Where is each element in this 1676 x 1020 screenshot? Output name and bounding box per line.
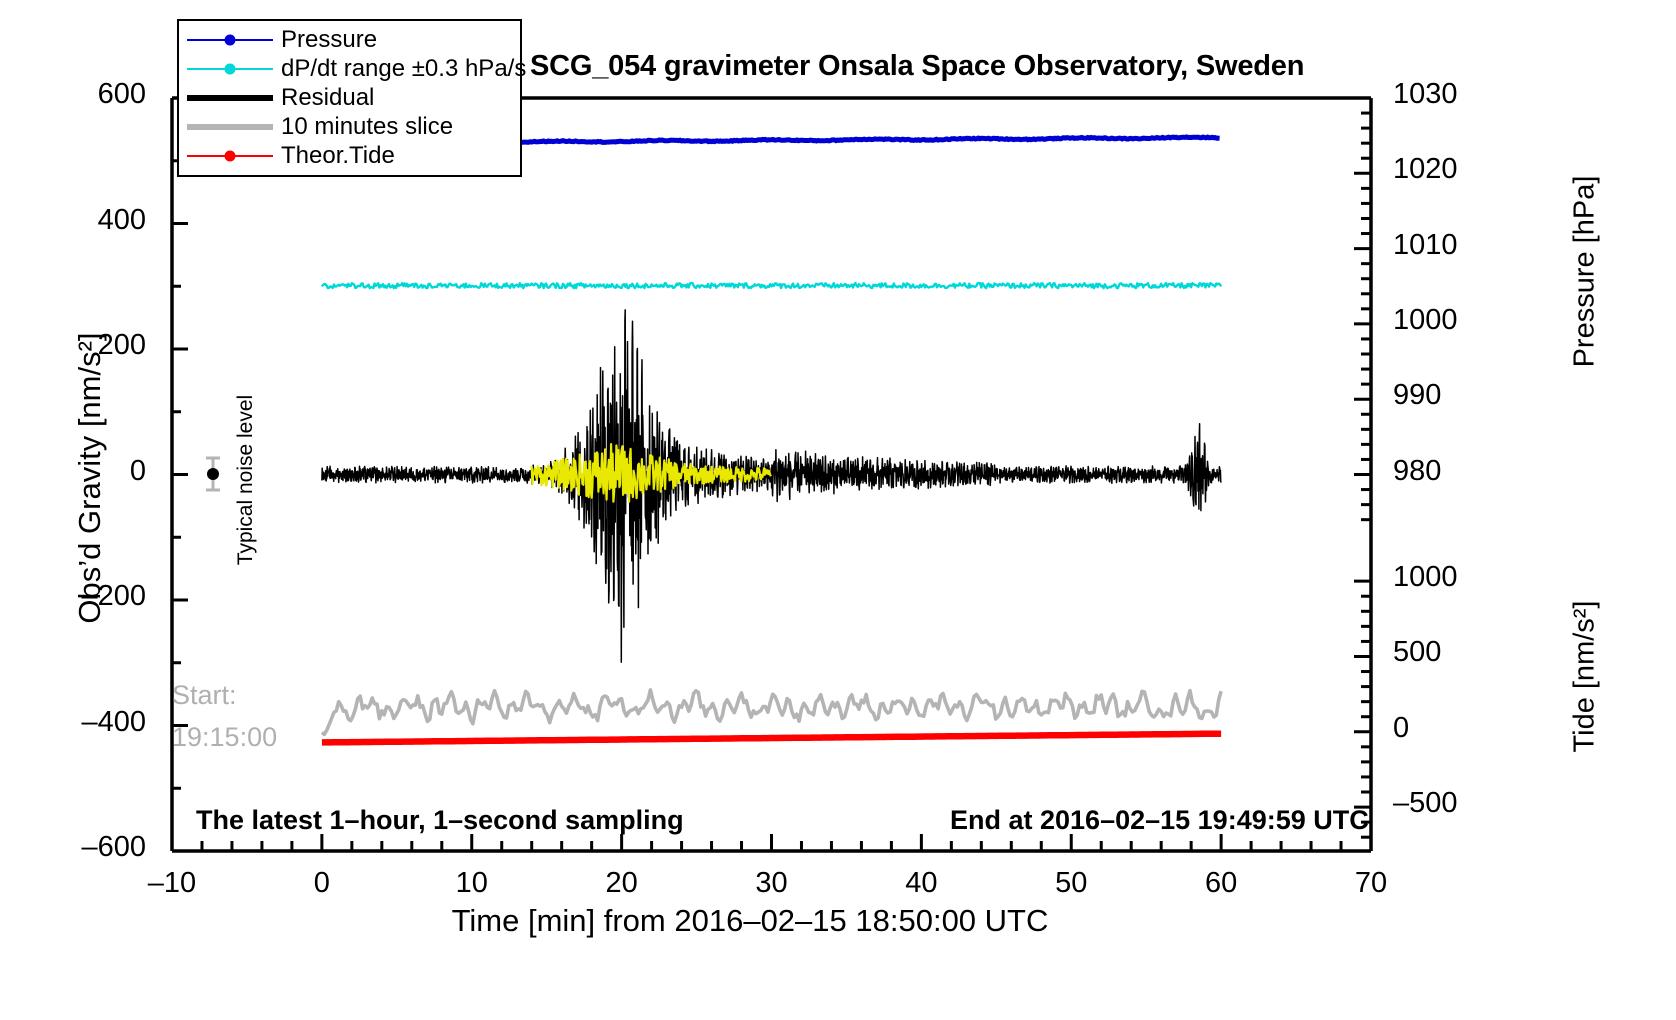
x-tick-label: 60 <box>1161 867 1281 900</box>
annotation-sampling-note: The latest 1–hour, 1–second sampling <box>196 805 684 836</box>
y-tick-label-left: 200 <box>0 329 146 362</box>
legend-item: Theor.Tide <box>179 141 520 170</box>
legend-item: Pressure <box>179 25 520 54</box>
y-axis-title-pressure: Pressure [hPa] <box>1569 22 1602 522</box>
series-dpdt-range <box>322 283 1221 288</box>
y-tick-label-left: –600 <box>0 831 146 864</box>
y-tick-label-pressure: 1010 <box>1393 229 1513 262</box>
y-tick-label-pressure: 980 <box>1393 455 1513 488</box>
legend-label: 10 minutes slice <box>281 115 453 139</box>
legend-line-icon <box>187 124 273 130</box>
x-tick-label: 30 <box>712 867 832 900</box>
chart-legend: PressuredP/dt range ±0.3 hPa/sResidual10… <box>177 19 522 177</box>
legend-item: dP/dt range ±0.3 hPa/s <box>179 54 520 83</box>
y-tick-label-tide: –500 <box>1393 787 1523 820</box>
annotation-start-label: Start: <box>172 680 237 711</box>
x-tick-label: 10 <box>412 867 532 900</box>
x-tick-label: 50 <box>1011 867 1131 900</box>
x-axis-title: Time [min] from 2016–02–15 18:50:00 UTC <box>0 903 1500 939</box>
noise-level-errorbar-marker <box>203 455 223 493</box>
page-title: SCG_054 gravimeter Onsala Space Observat… <box>530 50 1304 83</box>
legend-item: Residual <box>179 83 520 112</box>
y-tick-label-pressure: 1020 <box>1393 153 1513 186</box>
y-tick-label-pressure: 1000 <box>1393 304 1513 337</box>
x-tick-label: 70 <box>1311 867 1431 900</box>
y-tick-label-left: –200 <box>0 580 146 613</box>
chart-page: SCG_054 gravimeter Onsala Space Observat… <box>0 0 1676 1020</box>
legend-swatch-icon <box>187 59 273 79</box>
legend-swatch-icon <box>187 146 273 166</box>
y-tick-label-tide: 1000 <box>1393 561 1523 594</box>
x-tick-label: 0 <box>262 867 382 900</box>
y-tick-label-pressure: 1030 <box>1393 78 1513 111</box>
y-tick-label-tide: 500 <box>1393 636 1523 669</box>
y-tick-label-left: 0 <box>0 455 146 488</box>
legend-label: dP/dt range ±0.3 hPa/s <box>281 57 526 81</box>
annotation-typical-noise-level: Typical noise level <box>234 380 258 580</box>
legend-marker-dot-icon <box>225 63 236 74</box>
legend-swatch-icon <box>187 117 273 137</box>
series-residual <box>322 310 1221 662</box>
legend-swatch-icon <box>187 30 273 50</box>
legend-label: Residual <box>281 86 374 110</box>
series-10min-slice <box>322 690 1221 735</box>
legend-item: 10 minutes slice <box>179 112 520 141</box>
legend-swatch-icon <box>187 88 273 108</box>
series-pressure <box>517 137 1220 143</box>
legend-line-icon <box>187 95 273 101</box>
series-theor-tide <box>322 734 1221 743</box>
y-tick-label-pressure: 990 <box>1393 379 1513 412</box>
x-tick-label: 20 <box>562 867 682 900</box>
legend-label: Theor.Tide <box>281 144 395 168</box>
x-tick-label: 40 <box>861 867 981 900</box>
legend-marker-dot-icon <box>225 34 236 45</box>
y-tick-label-tide: 0 <box>1393 712 1523 745</box>
annotation-start-time: 19:15:00 <box>172 722 277 753</box>
legend-marker-dot-icon <box>225 150 236 161</box>
y-axis-title-tide: Tide [nm/s²] <box>1569 487 1602 867</box>
annotation-end-time: End at 2016–02–15 19:49:59 UTC <box>950 805 1369 836</box>
x-tick-label: –10 <box>112 867 232 900</box>
y-tick-label-left: 600 <box>0 78 146 111</box>
legend-label: Pressure <box>281 28 377 52</box>
y-tick-label-left: –400 <box>0 706 146 739</box>
y-tick-label-left: 400 <box>0 204 146 237</box>
